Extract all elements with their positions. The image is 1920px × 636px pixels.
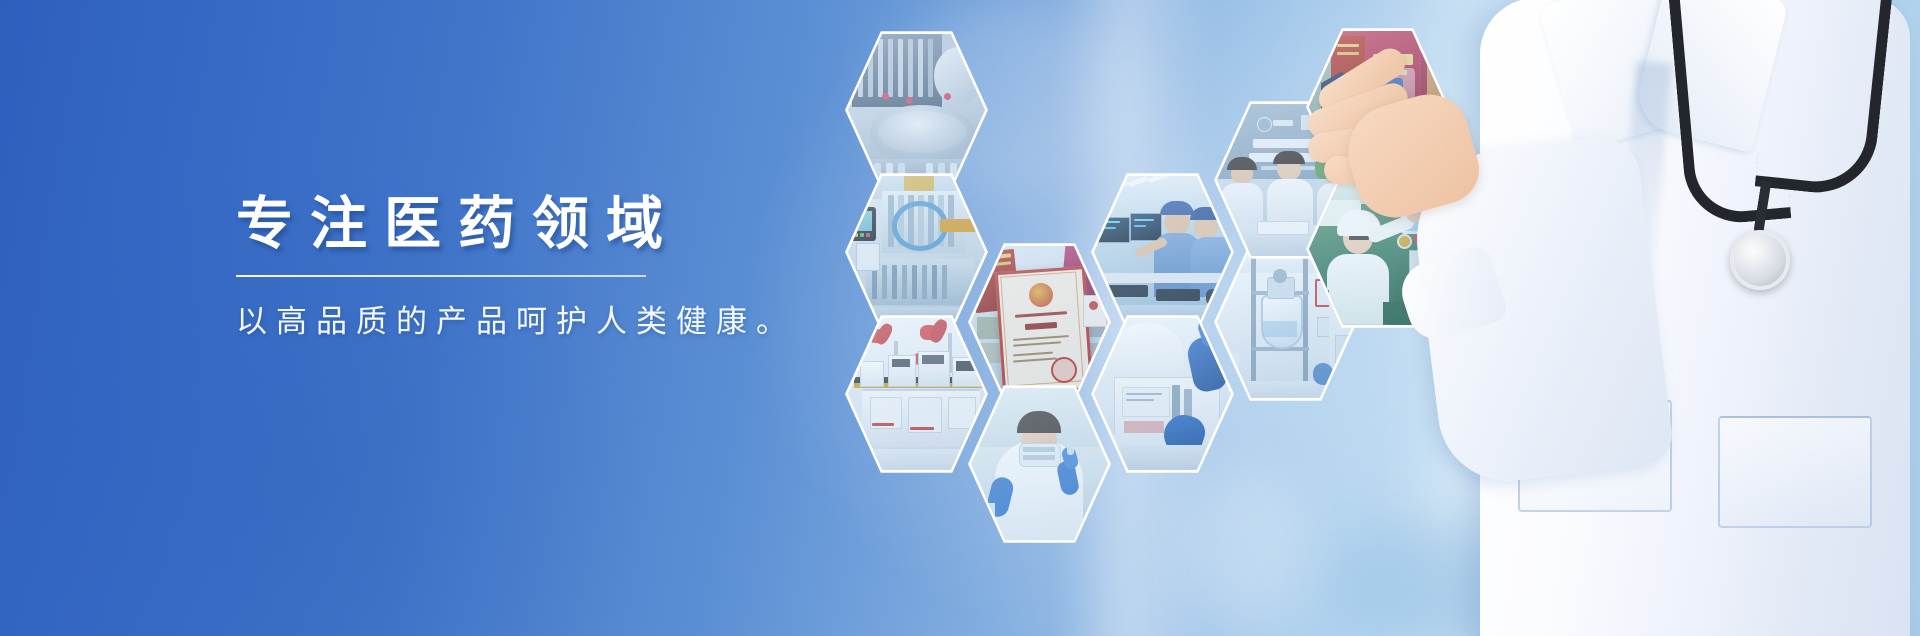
hex-capsule-machine[interactable]: 胶囊充填设备 JOYEA bbox=[845, 170, 988, 334]
hex-analytical-lab[interactable]: 分析检测实验室 bbox=[845, 312, 988, 476]
hex-control-room[interactable]: 生产中央控制室 bbox=[1091, 170, 1234, 334]
stethoscope-tube-right bbox=[1755, 0, 1895, 199]
doctor-figure bbox=[1330, 0, 1920, 636]
reaching-hand bbox=[1294, 34, 1504, 234]
hex-filling-line[interactable]: 制剂灌装生产线 bbox=[845, 28, 988, 192]
hex-certificate[interactable]: 国家科学技术进步奖 证书 bbox=[968, 240, 1111, 404]
stethoscope-icon bbox=[1660, 0, 1910, 304]
stethoscope-chestpiece bbox=[1730, 230, 1790, 290]
pharma-hero-banner: 专注医药领域 以高品质的产品呵护人类健康。 bbox=[0, 0, 1920, 636]
hex-technician[interactable]: 实验室技术人员 bbox=[968, 382, 1111, 546]
coat-pocket bbox=[1718, 416, 1872, 528]
hex-sample-prep[interactable]: 样品前处理 bbox=[1091, 312, 1234, 476]
